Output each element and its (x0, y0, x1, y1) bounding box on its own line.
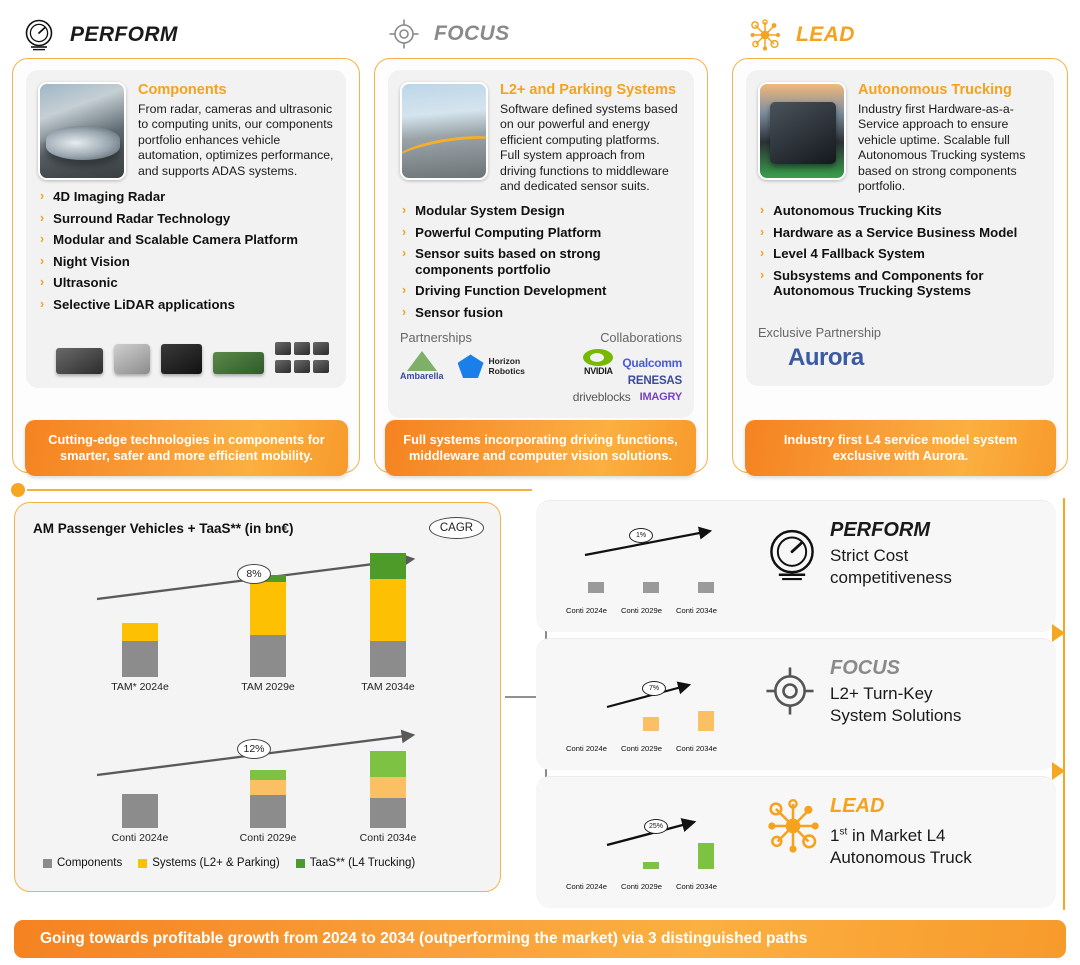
mini-trend-arrow (604, 817, 754, 861)
header-perform-label: PERFORM (70, 23, 178, 47)
exclusive-partner-section: Exclusive Partnership Aurora (758, 325, 1042, 372)
header-perform: PERFORM (22, 18, 178, 52)
horizon-robotics-logo: HorizonRobotics (458, 354, 525, 378)
mini-bar-2034 (698, 843, 714, 869)
card-description: Software defined systems based on our po… (500, 102, 682, 194)
card-components: Components From radar, cameras and ultra… (26, 70, 346, 388)
mini-cagr-value: 7% (642, 681, 666, 696)
list-item: ›Subsystems and Components for Autonomou… (760, 268, 1040, 299)
card-autonomous-trucking: Autonomous Trucking Industry first Hardw… (746, 70, 1054, 386)
list-item: ›Driving Function Development (402, 283, 680, 299)
l2-parking-image (400, 82, 488, 180)
horizon-gem-icon (458, 354, 484, 378)
chevron-right-icon: › (40, 297, 44, 312)
header-lead: LEAD (748, 18, 855, 52)
list-item: ›Surround Radar Technology (40, 211, 332, 227)
connector-dot (11, 483, 25, 497)
card-description: From radar, cameras and ultrasonic to co… (138, 102, 334, 179)
legend-item: Components (43, 857, 122, 869)
camera-image (114, 344, 149, 374)
mini-bar-label: Conti 2034e (676, 882, 717, 891)
legend-label: Components (57, 857, 122, 869)
bullet-label: Powerful Computing Platform (415, 225, 601, 241)
bar-label: TAM 2034e (336, 681, 440, 693)
bar-label: Conti 2034e (336, 832, 440, 844)
strategy-subtitle-line2: competitiveness (830, 568, 952, 587)
subtitle-rest: in Market L4 (847, 826, 945, 845)
tam-cagr-value: 8% (237, 564, 271, 584)
list-item: ›Hardware as a Service Business Model (760, 225, 1040, 241)
display-unit-image (161, 344, 202, 374)
list-item: ›Ultrasonic (40, 275, 332, 291)
renesas-logo: RENESAS (628, 375, 682, 387)
bullet-label: Modular System Design (415, 203, 565, 219)
legend-label: Systems (L2+ & Parking) (152, 857, 280, 869)
qualcomm-logo: Qualcomm (622, 356, 682, 370)
strategy-panel-focus: 7% Conti 2024e Conti 2029e Conti 2034e F… (536, 638, 1056, 770)
strategy-title: LEAD (830, 795, 884, 818)
bullet-label: Night Vision (53, 254, 130, 270)
card-l2-parking: L2+ and Parking Systems Software defined… (388, 70, 694, 418)
strategy-panel-lead: 25% Conti 2024e Conti 2029e Conti 2034e … (536, 776, 1056, 908)
bar-conti-2024 (122, 794, 158, 828)
right-accent-rail (1063, 498, 1065, 910)
legend-item: TaaS** (L4 Trucking) (296, 857, 415, 869)
list-item: ›Selective LiDAR applications (40, 297, 332, 313)
bullet-label: Modular and Scalable Camera Platform (53, 232, 298, 248)
chart-legend: Components Systems (L2+ & Parking) TaaS*… (43, 857, 415, 869)
collaborations-label: Collaborations (573, 330, 682, 345)
target-icon (764, 665, 816, 717)
chevron-right-icon: › (402, 225, 406, 240)
chevron-right-icon: › (402, 283, 406, 298)
mini-chart-focus: 7% Conti 2024e Conti 2029e Conti 2034e (564, 661, 744, 757)
mini-bar-2034 (698, 582, 714, 593)
network-nodes-icon (764, 797, 822, 855)
autonomous-truck-image (758, 82, 846, 180)
list-item: ›Sensor fusion (402, 305, 680, 321)
mini-bar-label: Conti 2024e (566, 744, 607, 753)
bullet-list-l2: ›Modular System Design ›Powerful Computi… (400, 203, 682, 320)
bar-label: Conti 2029e (216, 832, 320, 844)
horizon-robotics-label: HorizonRobotics (489, 356, 525, 376)
mini-cagr-value: 25% (644, 819, 668, 834)
mini-bar-2034 (698, 711, 714, 731)
gauge-icon (22, 18, 56, 52)
strategy-title: PERFORM (830, 519, 930, 542)
conti-cagr-value: 12% (237, 739, 271, 759)
header-focus-label: FOCUS (434, 22, 510, 46)
list-item: ›Sensor suits based on strong components… (402, 246, 680, 277)
mini-chart-lead: 25% Conti 2024e Conti 2029e Conti 2034e (564, 799, 744, 895)
header-lead-label: LEAD (796, 23, 855, 47)
banner-focus: Full systems incorporating driving funct… (385, 420, 696, 476)
bullet-label: Ultrasonic (53, 275, 118, 291)
bar-label: TAM 2029e (216, 681, 320, 693)
strategy-title: FOCUS (830, 657, 900, 680)
chevron-right-icon: › (402, 246, 406, 261)
exclusive-partnership-label: Exclusive Partnership (758, 325, 1042, 340)
chart-title: AM Passenger Vehicles + TaaS** (in bn€) (33, 521, 293, 536)
legend-label: TaaS** (L4 Trucking) (310, 857, 415, 869)
bullet-label: Sensor fusion (415, 305, 503, 321)
bar-conti-2034 (370, 751, 406, 828)
chevron-right-icon: › (40, 211, 44, 226)
list-item: ›Night Vision (40, 254, 332, 270)
banner-lead: Industry first L4 service model system e… (745, 420, 1056, 476)
column-perform: Components From radar, cameras and ultra… (12, 58, 360, 473)
strategy-subtitle-line2: System Solutions (830, 706, 961, 725)
nvidia-logo: NVIDIA (583, 349, 613, 376)
bullet-label: Sensor suits based on strong components … (415, 246, 680, 277)
strategy-panel-perform: 1% Conti 2024e Conti 2029e Conti 2034e P… (536, 500, 1056, 632)
chevron-right-icon: › (40, 232, 44, 247)
list-item: ›Autonomous Trucking Kits (760, 203, 1040, 219)
strategy-subtitle-line1: 1st in Market L4 (830, 826, 946, 845)
product-photos (38, 324, 334, 374)
chevron-right-icon: › (40, 275, 44, 290)
banner-perform: Cutting-edge technologies in components … (25, 420, 348, 476)
bullet-label: Level 4 Fallback System (773, 246, 925, 262)
imagry-logo: IMAGRY (640, 391, 682, 403)
header-focus: FOCUS (388, 18, 510, 50)
mini-bar-label: Conti 2034e (676, 744, 717, 753)
radar-unit-image (56, 348, 103, 374)
chevron-right-icon: › (760, 203, 764, 218)
list-item: ›Powerful Computing Platform (402, 225, 680, 241)
chevron-right-icon: › (40, 189, 44, 204)
bullet-label: Driving Function Development (415, 283, 606, 299)
mini-bar-2029 (643, 582, 659, 593)
chevron-right-icon: › (402, 203, 406, 218)
partnerships-label: Partnerships (400, 330, 525, 345)
gauge-icon (764, 527, 820, 583)
chevron-right-icon: › (402, 305, 406, 320)
mini-bar-label: Conti 2024e (566, 882, 607, 891)
column-focus: L2+ and Parking Systems Software defined… (374, 58, 708, 473)
strategy-subtitle-line2: Autonomous Truck (830, 848, 972, 867)
nvidia-label: NVIDIA (584, 366, 613, 376)
aurora-logo: Aurora (758, 344, 1042, 372)
card-title: L2+ and Parking Systems (500, 82, 682, 98)
connector-line (20, 489, 532, 491)
list-item: ›Level 4 Fallback System (760, 246, 1040, 262)
mini-chart-perform: 1% Conti 2024e Conti 2029e Conti 2034e (564, 523, 744, 619)
mini-bar-label: Conti 2029e (621, 882, 662, 891)
mini-bar-2029 (643, 862, 659, 869)
bar-label: TAM* 2024e (88, 681, 192, 693)
bullet-label: Autonomous Trucking Kits (773, 203, 942, 219)
strategy-subtitle: Strict Cost competitiveness (830, 545, 952, 589)
components-image (38, 82, 126, 180)
mini-bar-label: Conti 2024e (566, 606, 607, 615)
strategy-subtitle-line1: L2+ Turn-Key (830, 684, 933, 703)
mini-trend-arrow (604, 679, 754, 723)
list-item: ›4D Imaging Radar (40, 189, 332, 205)
mini-bar-2029 (643, 717, 659, 731)
partners-section: Partnerships Ambarella HorizonRobotics (400, 330, 682, 404)
chevron-right-icon: › (40, 254, 44, 269)
bar-tam-2024 (122, 623, 158, 677)
bar-conti-2029 (250, 770, 286, 828)
bar-tam-2034 (370, 553, 406, 677)
card-title: Components (138, 82, 334, 98)
target-icon (388, 18, 420, 50)
list-item: ›Modular and Scalable Camera Platform (40, 232, 332, 248)
card-title: Autonomous Trucking (858, 82, 1042, 98)
bullet-list-trucking: ›Autonomous Trucking Kits ›Hardware as a… (758, 203, 1042, 299)
market-chart-panel: AM Passenger Vehicles + TaaS** (in bn€) … (14, 502, 501, 892)
bullet-label: 4D Imaging Radar (53, 189, 165, 205)
top-header-row: PERFORM FOCUS (0, 0, 1080, 58)
strategy-subtitle: 1st in Market L4 Autonomous Truck (830, 821, 972, 869)
strategy-subtitle-line1: Strict Cost (830, 546, 908, 565)
chevron-right-icon: › (760, 225, 764, 240)
rail-notch-1 (1052, 624, 1065, 642)
bullet-list-components: ›4D Imaging Radar ›Surround Radar Techno… (38, 189, 334, 312)
ultrasonic-sensors-image (275, 342, 334, 374)
cagr-badge: CAGR (429, 517, 484, 539)
network-nodes-icon (748, 18, 782, 52)
bullet-label: Selective LiDAR applications (53, 297, 235, 313)
ambarella-logo: Ambarella (400, 351, 444, 381)
driveblocks-logo: driveblocks (573, 390, 631, 404)
bottom-summary-banner: Going towards profitable growth from 202… (14, 920, 1066, 958)
mini-trend-arrow (582, 523, 732, 565)
column-lead: Autonomous Trucking Industry first Hardw… (732, 58, 1068, 473)
bar-tam-2029 (250, 575, 286, 677)
bullet-label: Hardware as a Service Business Model (773, 225, 1017, 241)
control-unit-image (213, 352, 264, 374)
bullet-label: Surround Radar Technology (53, 211, 230, 227)
mini-bar-label: Conti 2029e (621, 606, 662, 615)
strategy-subtitle: L2+ Turn-Key System Solutions (830, 683, 961, 727)
mini-bar-label: Conti 2034e (676, 606, 717, 615)
card-description: Industry first Hardware-as-a-Service app… (858, 102, 1042, 194)
mini-bar-label: Conti 2029e (621, 744, 662, 753)
legend-item: Systems (L2+ & Parking) (138, 857, 280, 869)
list-item: ›Modular System Design (402, 203, 680, 219)
mini-cagr-value: 1% (629, 528, 653, 543)
rail-notch-2 (1052, 762, 1065, 780)
bullet-label: Subsystems and Components for Autonomous… (773, 268, 1040, 299)
bar-label: Conti 2024e (88, 832, 192, 844)
chevron-right-icon: › (760, 246, 764, 261)
chevron-right-icon: › (760, 268, 764, 283)
ambarella-label: Ambarella (400, 371, 444, 381)
mini-bar-2024 (588, 582, 604, 593)
